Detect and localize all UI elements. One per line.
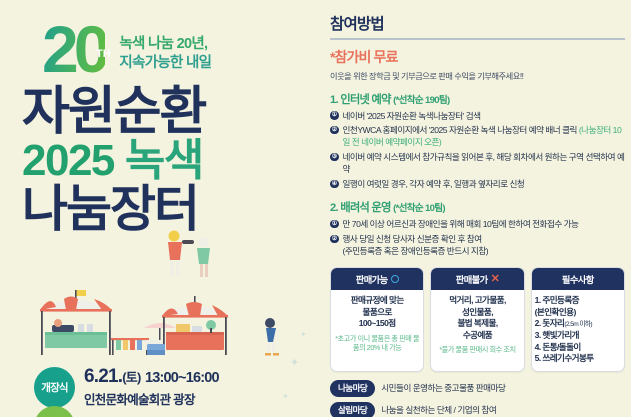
madang-pill-sharing: 나눔마당 (330, 380, 375, 397)
box-requirements-title: 필수사항 (562, 272, 594, 286)
step-2-note: (*선착순 10팀) (393, 203, 445, 214)
madang-desc: 나눔을 실천하는 단체 / 기업의 참여 (381, 404, 496, 416)
bullet-text: 네이버 예약 시스템에서 참가규칙을 읽어본 후, 해당 회차에서 원하는 구역… (343, 151, 626, 175)
anniversary-tagline: 녹색 나눔 20년, 지속가능한 내일 (119, 35, 211, 72)
step-1-bullets: ① 네이버 '2025 자원순환 녹색나눔장터' 검색 ② 인천YWCA 홈페이… (330, 110, 625, 191)
circle-mark-icon (391, 275, 399, 283)
bullet-number: ① (330, 220, 339, 229)
requirement-main: 2. 돗자리 (535, 318, 565, 328)
bullet-number: ② (330, 235, 339, 244)
cross-mark-icon: ✕ (491, 274, 500, 285)
step-1-index: 1. (330, 94, 338, 106)
box-requirements-body: 1. 주민등록증(본인확인용) 2. 돗자리(2.5m 이하) 3. 햇빛가리개… (532, 290, 624, 370)
requirement-item: 3. 햇빛가리개 (535, 330, 620, 342)
requirement-main: 1. 주민등록증 (535, 295, 579, 305)
bullet-number: ③ (330, 153, 339, 162)
list-item: ② 행사 당일 신청 당사자 신분증 확인 후 참여(주민등록증 혹은 장애인등… (330, 233, 625, 257)
madang-list: 나눔마당 시민들이 운영하는 중고물품 판매마당 살림마당 나눔을 실천하는 단… (330, 380, 625, 417)
sparkle-decoration: ✦ (300, 330, 307, 339)
step-1-note: (*선착순 190팀) (393, 95, 449, 106)
free-fee-subtext: 이웃을 위한 장학금 및 기부금으로 판매 수익을 기부해주세요!! (330, 70, 625, 82)
title-green-word: 녹색 (125, 139, 203, 183)
box-line: 판매규정에 맞는 (335, 295, 419, 307)
list-item: ② 인천YWCA 홈페이지에서 '2025 자원순환 녹색 나눔장터 예약 배너… (330, 124, 625, 148)
opening-ceremony-badge: 개장식 (34, 367, 75, 408)
opening-ceremony-info: 6.21.(토) 13:00~16:00 인천문화예술회관 광장 (84, 366, 219, 408)
title-year: 2025 (22, 139, 114, 183)
box-line: 불법 복제물, (435, 318, 519, 330)
poster-right-column: 참여방법 *참가비 무료 이웃을 위한 장학금 및 기부금으로 판매 수익을 기… (330, 12, 625, 417)
opening-venue: 인천문화예술회관 광장 (84, 389, 219, 408)
box-requirements-header: 필수사항 (532, 268, 624, 290)
title-line-resource-circulation: 자원순환 (22, 88, 205, 137)
box-line: 수공예품 (435, 330, 519, 342)
event-poster: 20 TH 녹색 나눔 20년, 지속가능한 내일 자원순환 2025 녹색 나… (0, 0, 631, 417)
box-sellable-body: 판매규정에 맞는 물품으로 100~150점 *초고가 이니 물품은 총 판매 … (331, 290, 423, 358)
box-sellable-note: *초고가 이니 물품은 총 판매 물품의 20% 내 가능 (335, 334, 419, 353)
bullet-number: ② (330, 126, 339, 135)
box-not-sellable: 판매불가 ✕ 먹거리, 고가물품, 성인물품, 불법 복제물, 수공예품 *불가… (430, 267, 524, 371)
free-fee-heading: *참가비 무료 (330, 47, 625, 67)
list-item: ① 만 70세 이상 어르신과 장애인을 위해 매회 10팀에 한하여 전화접수… (330, 218, 625, 230)
anniversary-tagline-line1: 녹색 나눔 20년, (119, 35, 211, 54)
opening-ceremony-row: 개장식 6.21.(토) 13:00~16:00 인천문화예술회관 광장 (34, 366, 219, 408)
list-item: ① 네이버 '2025 자원순환 녹색나눔장터' 검색 (330, 110, 625, 122)
madang-pill-living: 살림마당 (330, 402, 375, 417)
rules-boxes: 판매가능 판매규정에 맞는 물품으로 100~150점 *초고가 이니 물품은 … (330, 267, 625, 371)
step-2-bullets: ① 만 70세 이상 어르신과 장애인을 위해 매회 10팀에 한하여 전화접수… (330, 218, 625, 257)
requirement-sub: (본인확인용) (535, 307, 576, 317)
step-1-heading: 1. 인터넷 예약 (*선착순 190팀) (330, 91, 625, 107)
title-people-illustration (160, 228, 224, 285)
opening-time: 13:00~16:00 (145, 370, 219, 386)
poster-title: 자원순환 2025 녹색 나눔장터 (22, 88, 205, 234)
sparkle-decoration: ✦ (282, 392, 289, 401)
bullet-text: 인천YWCA 홈페이지에서 '2025 자원순환 녹색 나눔장터 예약 배너 클… (343, 124, 626, 148)
title-line-sharing-market: 나눔장터 (22, 185, 205, 234)
poster-left-column: 20 TH 녹색 나눔 20년, 지속가능한 내일 자원순환 2025 녹색 나… (0, 0, 322, 417)
step-1-title: 인터넷 예약 (340, 94, 390, 106)
box-not-sellable-note: *불가 물품 판매시 회수 조치 (435, 345, 519, 354)
section-divider (330, 38, 625, 40)
sparkle-decoration: ✦ (290, 356, 299, 369)
title-line-year-green: 2025 녹색 (22, 139, 205, 183)
bullet-number: ④ (330, 180, 339, 189)
requirement-item: 5. 쓰레기수거봉투 (535, 353, 620, 365)
anniversary-logo: 20 TH 녹색 나눔 20년, 지속가능한 내일 (42, 22, 211, 76)
bullet-main-text: 행사 당일 신청 당사자 신분증 확인 후 참여 (343, 234, 482, 244)
anniversary-ordinal: TH (96, 48, 111, 60)
box-sellable-header: 판매가능 (331, 268, 423, 290)
market-illustration-svg (14, 288, 314, 360)
box-not-sellable-title: 판매불가 (456, 272, 488, 286)
market-illustration (14, 288, 314, 360)
box-not-sellable-body: 먹거리, 고가물품, 성인물품, 불법 복제물, 수공예품 *불가 물품 판매시… (431, 290, 523, 360)
bullet-note-text: (주민등록증 혹은 장애인등록증 반드시 지참) (343, 246, 489, 256)
bullet-text: 일행이 여럿일 경우, 각자 예약 후, 일행과 옆자리로 신청 (343, 178, 626, 190)
box-line: 성인물품, (435, 307, 519, 319)
box-not-sellable-header: 판매불가 ✕ (431, 268, 523, 290)
box-requirements: 필수사항 1. 주민등록증(본인확인용) 2. 돗자리(2.5m 이하) 3. … (531, 267, 625, 371)
bullet-text: 네이버 '2025 자원순환 녹색나눔장터' 검색 (343, 110, 626, 122)
box-sellable-title: 판매가능 (356, 272, 388, 286)
requirement-item: 1. 주민등록증(본인확인용) (535, 295, 620, 318)
list-item: 살림마당 나눔을 실천하는 단체 / 기업의 참여 (330, 402, 625, 417)
box-line: 100~150점 (335, 318, 419, 330)
box-line: 먹거리, 고가물품, (435, 295, 519, 307)
bullet-number: ① (330, 111, 339, 120)
bullet-text: 만 70세 이상 어르신과 장애인을 위해 매회 10팀에 한하여 전화접수 가… (343, 218, 626, 230)
opening-date: 6.21. (84, 366, 122, 387)
madang-desc: 시민들이 운영하는 중고물품 판매마당 (381, 382, 505, 394)
list-item: ③ 네이버 예약 시스템에서 참가규칙을 읽어본 후, 해당 회차에서 원하는 … (330, 151, 625, 175)
requirement-sub: (2.5m 이하) (564, 321, 592, 328)
bullet-text: 행사 당일 신청 당사자 신분증 확인 후 참여(주민등록증 혹은 장애인등록증… (343, 233, 626, 257)
opening-ceremony-datetime: 6.21.(토) 13:00~16:00 (84, 366, 219, 388)
list-item: ④ 일행이 여럿일 경우, 각자 예약 후, 일행과 옆자리로 신청 (330, 178, 625, 190)
opening-day-of-week: (토) (122, 370, 140, 385)
step-2-title: 배려석 운영 (340, 202, 390, 214)
box-sellable: 판매가능 판매규정에 맞는 물품으로 100~150점 *초고가 이니 물품은 … (330, 267, 424, 371)
list-item: 나눔마당 시민들이 운영하는 중고물품 판매마당 (330, 380, 625, 397)
bullet-main-text: 인천YWCA 홈페이지에서 '2025 자원순환 녹색 나눔장터 예약 배너 클… (343, 125, 577, 135)
participation-method-title: 참여방법 (330, 12, 625, 34)
box-line: 물품으로 (335, 307, 419, 319)
anniversary-tagline-line2: 지속가능한 내일 (119, 54, 211, 73)
requirement-item: 4. 돈통/돌돌이 (535, 342, 620, 354)
requirement-item: 2. 돗자리(2.5m 이하) (535, 318, 620, 330)
step-2-heading: 2. 배려석 운영 (*선착순 10팀) (330, 199, 625, 215)
step-2-index: 2. (330, 202, 338, 214)
